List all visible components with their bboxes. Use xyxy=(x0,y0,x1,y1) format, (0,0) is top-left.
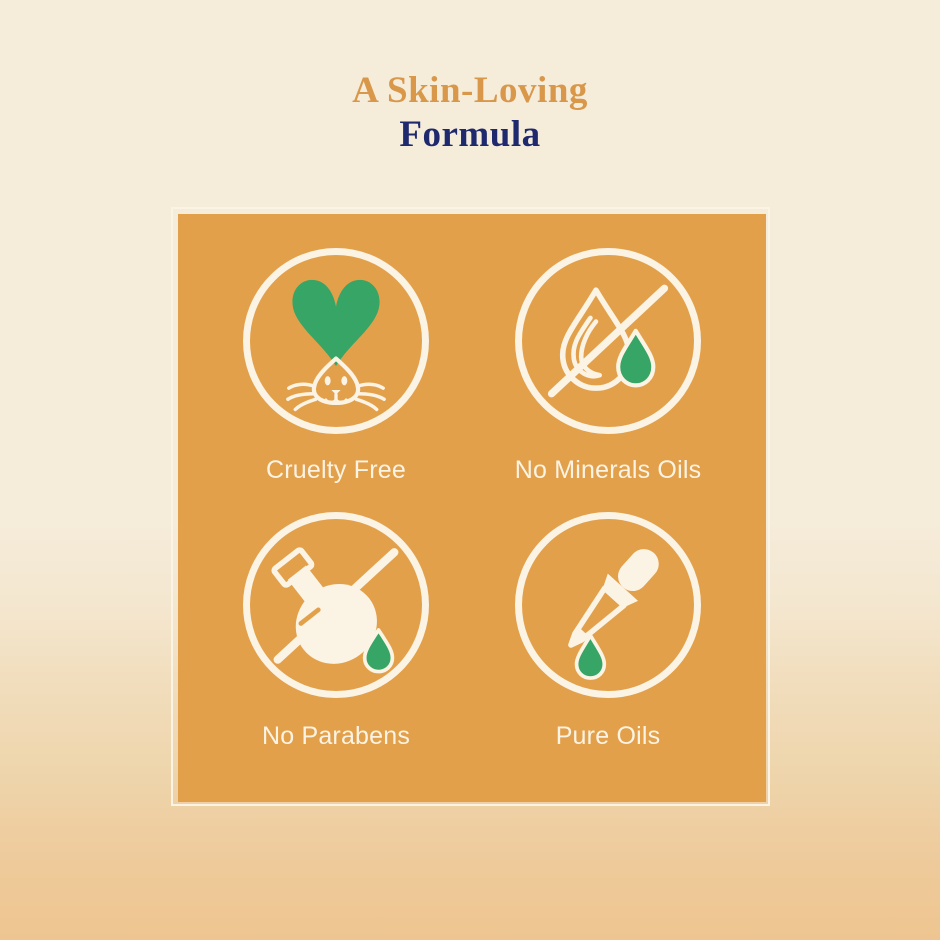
badge-pure-oils[interactable]: Pure Oils xyxy=(472,512,744,776)
badge-label: Pure Oils xyxy=(556,722,661,751)
rabbit-heart-icon xyxy=(243,248,429,434)
poster-canvas: A Skin-Loving Formula xyxy=(0,0,940,940)
title-line-2: Formula xyxy=(0,111,940,159)
features-panel: Cruelty Free No Minerals O xyxy=(178,214,766,802)
page-title: A Skin-Loving Formula xyxy=(0,70,940,160)
badge-grid: Cruelty Free No Minerals O xyxy=(178,214,766,802)
badge-label: Cruelty Free xyxy=(266,456,406,485)
badge-no-minerals-oils[interactable]: No Minerals Oils xyxy=(472,248,744,512)
paraben-bottle-icon xyxy=(243,512,429,698)
oil-droplet-icon xyxy=(515,248,701,434)
badge-cruelty-free[interactable]: Cruelty Free xyxy=(200,248,472,512)
badge-no-parabens[interactable]: No Parabens xyxy=(200,512,472,776)
title-line-1: A Skin-Loving xyxy=(0,70,940,111)
dropper-pipette-icon xyxy=(515,512,701,698)
badge-label: No Minerals Oils xyxy=(515,456,702,485)
badge-label: No Parabens xyxy=(262,722,410,751)
